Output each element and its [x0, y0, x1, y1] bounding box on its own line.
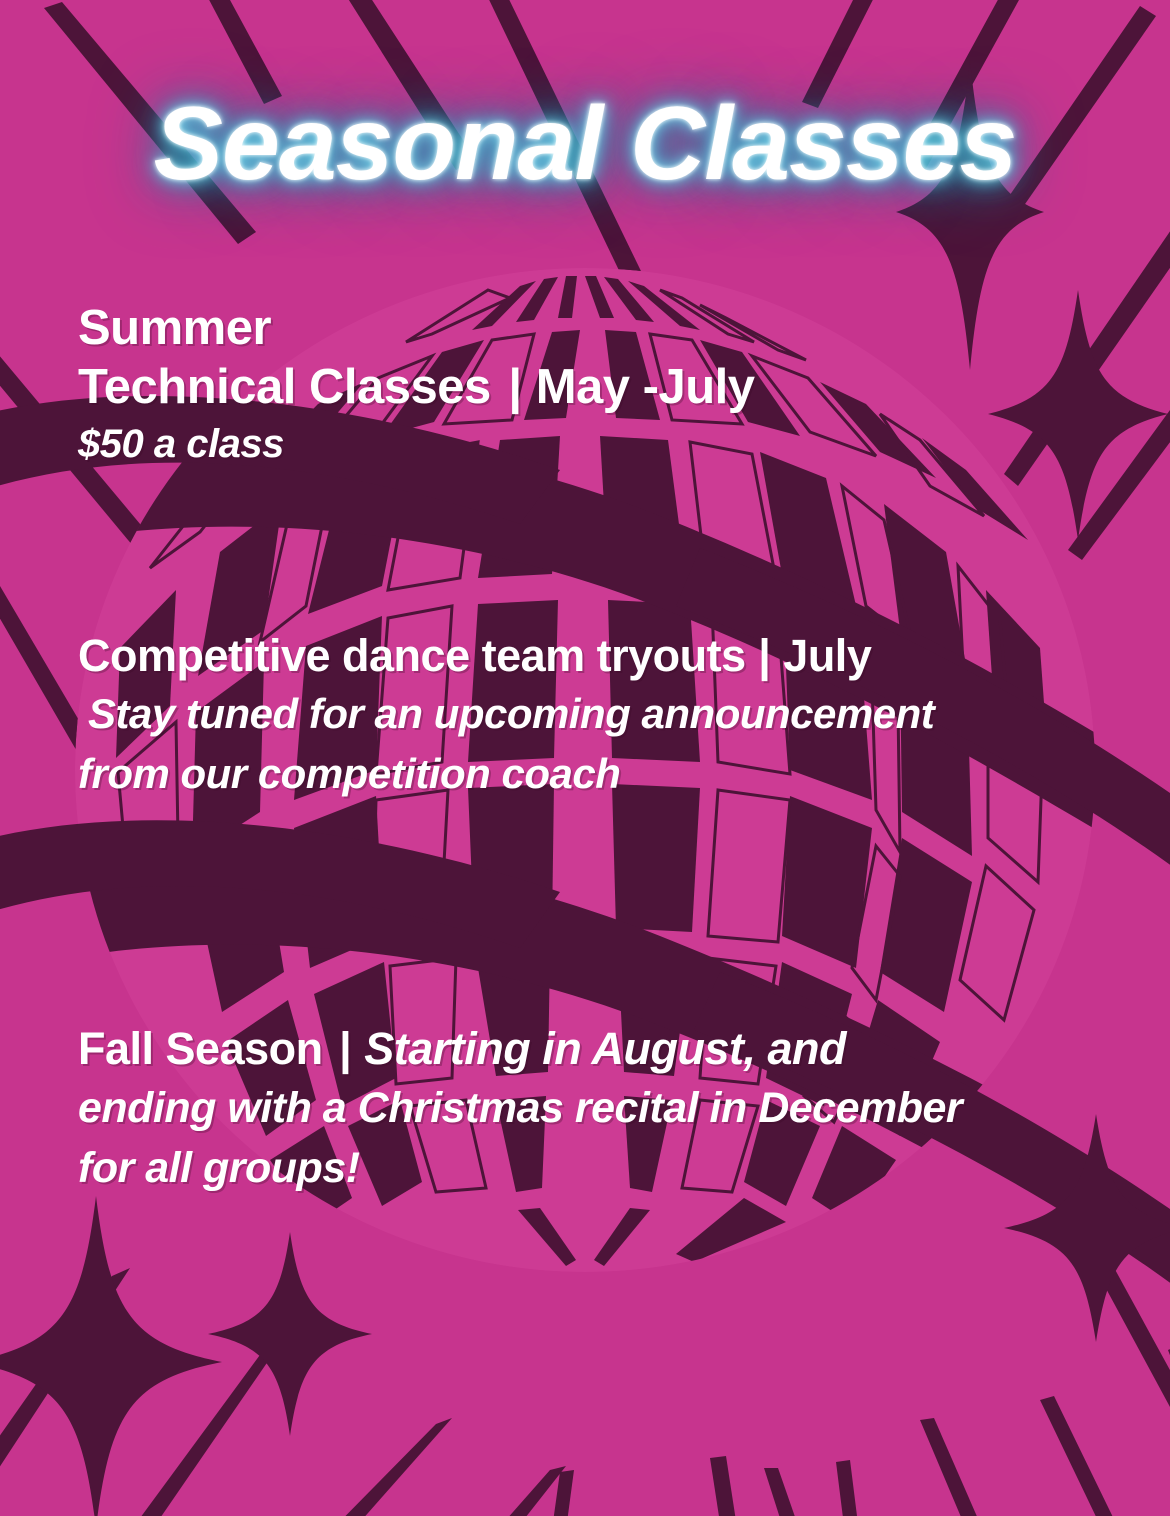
- tryouts-divider: |: [758, 630, 771, 681]
- page-title: Seasonal Classes: [154, 92, 1017, 196]
- summer-price: $50 a class: [78, 418, 755, 470]
- tryouts-detail-line-2: from our competition coach: [78, 744, 934, 804]
- poster-title-container: Seasonal Classes: [0, 92, 1170, 196]
- tryouts-heading-text: Competitive dance team tryouts: [78, 630, 746, 681]
- section-fall-season: Fall Season | Starting in August, and en…: [78, 1020, 962, 1198]
- fall-detail-line-3: for all groups!: [78, 1138, 962, 1198]
- summer-line-heading: Technical Classes | May -July: [78, 356, 755, 418]
- section-competitive-dance-team-tryouts: Competitive dance team tryouts | July St…: [78, 628, 934, 804]
- fall-line-heading: Fall Season | Starting in August, and: [78, 1020, 962, 1078]
- tryouts-month: July: [783, 630, 871, 681]
- tryouts-detail-line-1: Stay tuned for an upcoming announcement: [78, 684, 934, 744]
- summer-divider: |: [508, 360, 522, 414]
- fall-detail-line-2: ending with a Christmas recital in Decem…: [78, 1078, 962, 1138]
- tryouts-line-heading: Competitive dance team tryouts | July: [78, 628, 934, 684]
- summer-dates: May -July: [536, 360, 755, 414]
- section-summer-technical-classes: Summer Technical Classes | May -July $50…: [78, 300, 755, 470]
- fall-heading-text: Fall Season: [78, 1023, 323, 1074]
- seasonal-classes-poster: Seasonal Classes Summer Technical Classe…: [0, 0, 1170, 1516]
- fall-detail-start: Starting in August, and: [364, 1023, 846, 1074]
- summer-heading-text: Technical Classes: [78, 360, 491, 414]
- fall-divider: |: [339, 1023, 352, 1074]
- summer-line-season: Summer: [78, 300, 755, 356]
